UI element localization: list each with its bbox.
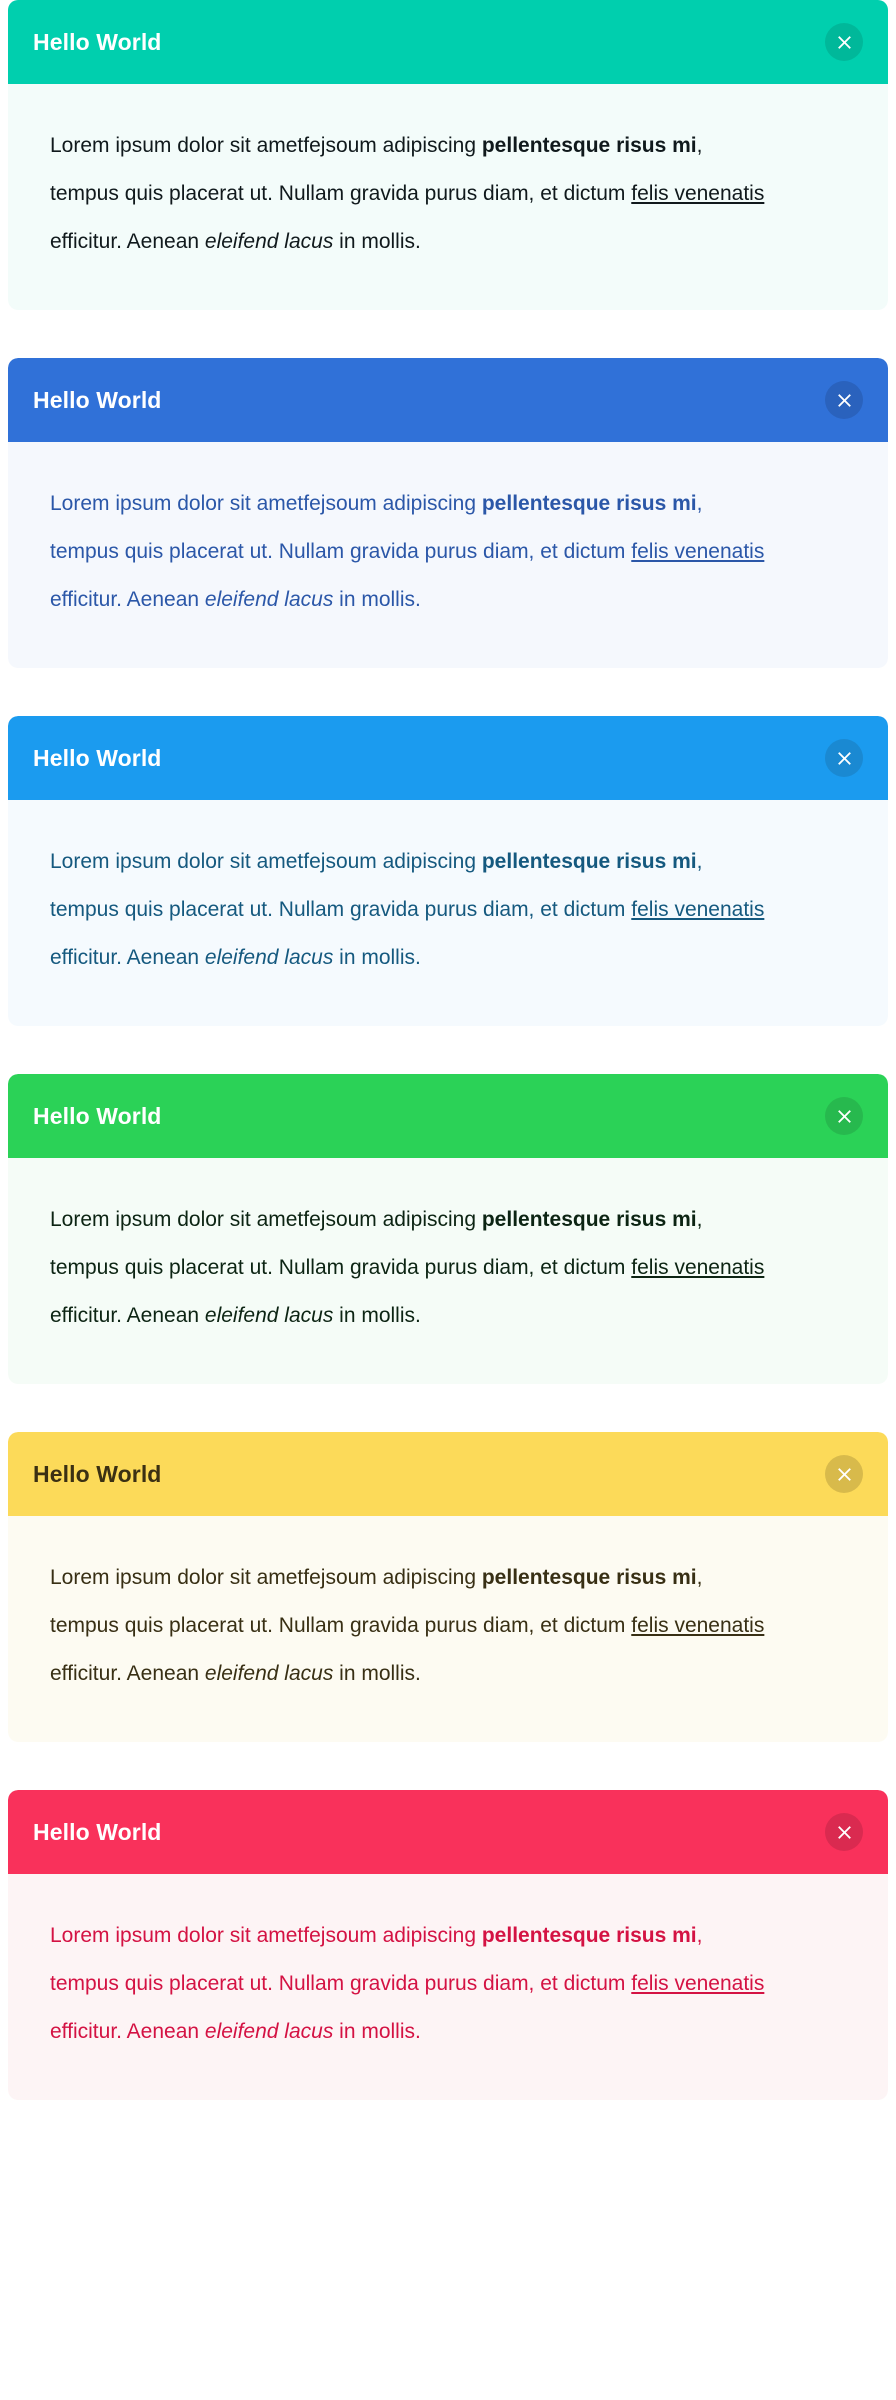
text-bold-phrase: pellentesque risus mi [482,1208,697,1231]
close-button[interactable] [825,381,863,419]
alert-body-red: Lorem ipsum dolor sit ametfejsoum adipis… [8,1874,888,2100]
close-button[interactable] [825,739,863,777]
alert-body-light-blue: Lorem ipsum dolor sit ametfejsoum adipis… [8,800,888,1026]
text-segment-4: in mollis. [333,1662,421,1685]
text-bold-phrase: pellentesque risus mi [482,492,697,515]
text-segment-3: efficitur. Aenean [50,1304,205,1327]
text-bold-phrase: pellentesque risus mi [482,1924,697,1947]
alert-body-blue: Lorem ipsum dolor sit ametfejsoum adipis… [8,442,888,668]
alert-paragraph: Lorem ipsum dolor sit ametfejsoum adipis… [50,122,770,266]
close-icon [837,1825,852,1840]
text-italic-phrase: eleifend lacus [205,1662,333,1685]
alert-header-blue: Hello World [8,358,888,442]
close-icon [837,1109,852,1124]
alert-card-light-blue: Hello World Lorem ipsum dolor sit ametfe… [8,716,888,1026]
close-button[interactable] [825,23,863,61]
alert-header-teal: Hello World [8,0,888,84]
text-segment-4: in mollis. [333,588,421,611]
text-segment-1: Lorem ipsum dolor sit ametfejsoum adipis… [50,134,482,157]
text-segment-1: Lorem ipsum dolor sit ametfejsoum adipis… [50,1566,482,1589]
text-italic-phrase: eleifend lacus [205,588,333,611]
felis-venenatis-link[interactable]: felis venenatis [631,1614,764,1637]
alert-body-yellow: Lorem ipsum dolor sit ametfejsoum adipis… [8,1516,888,1742]
alert-title: Hello World [33,1105,161,1128]
text-segment-3: efficitur. Aenean [50,1662,205,1685]
alert-header-yellow: Hello World [8,1432,888,1516]
text-segment-4: in mollis. [333,2020,421,2043]
close-icon [837,1467,852,1482]
alert-header-light-blue: Hello World [8,716,888,800]
text-segment-1: Lorem ipsum dolor sit ametfejsoum adipis… [50,1208,482,1231]
felis-venenatis-link[interactable]: felis venenatis [631,1972,764,1995]
alert-paragraph: Lorem ipsum dolor sit ametfejsoum adipis… [50,838,770,982]
text-italic-phrase: eleifend lacus [205,1304,333,1327]
text-segment-4: in mollis. [333,230,421,253]
alert-title: Hello World [33,389,161,412]
text-bold-phrase: pellentesque risus mi [482,134,697,157]
alert-paragraph: Lorem ipsum dolor sit ametfejsoum adipis… [50,1196,770,1340]
text-segment-3: efficitur. Aenean [50,588,205,611]
text-segment-1: Lorem ipsum dolor sit ametfejsoum adipis… [50,492,482,515]
felis-venenatis-link[interactable]: felis venenatis [631,1256,764,1279]
text-italic-phrase: eleifend lacus [205,230,333,253]
alert-body-green: Lorem ipsum dolor sit ametfejsoum adipis… [8,1158,888,1384]
text-segment-4: in mollis. [333,946,421,969]
text-segment-1: Lorem ipsum dolor sit ametfejsoum adipis… [50,850,482,873]
close-icon [837,35,852,50]
alert-card-green: Hello World Lorem ipsum dolor sit ametfe… [8,1074,888,1384]
text-segment-1: Lorem ipsum dolor sit ametfejsoum adipis… [50,1924,482,1947]
text-italic-phrase: eleifend lacus [205,2020,333,2043]
text-segment-3: efficitur. Aenean [50,2020,205,2043]
alert-header-red: Hello World [8,1790,888,1874]
close-icon [837,393,852,408]
close-icon [837,751,852,766]
alert-paragraph: Lorem ipsum dolor sit ametfejsoum adipis… [50,480,770,624]
alert-title: Hello World [33,31,161,54]
alert-title: Hello World [33,1821,161,1844]
felis-venenatis-link[interactable]: felis venenatis [631,540,764,563]
alert-header-green: Hello World [8,1074,888,1158]
alert-card-blue: Hello World Lorem ipsum dolor sit ametfe… [8,358,888,668]
alert-stack: Hello World Lorem ipsum dolor sit ametfe… [0,0,896,2100]
felis-venenatis-link[interactable]: felis venenatis [631,898,764,921]
text-italic-phrase: eleifend lacus [205,946,333,969]
alert-paragraph: Lorem ipsum dolor sit ametfejsoum adipis… [50,1554,770,1698]
text-segment-4: in mollis. [333,1304,421,1327]
text-bold-phrase: pellentesque risus mi [482,1566,697,1589]
alert-paragraph: Lorem ipsum dolor sit ametfejsoum adipis… [50,1912,770,2056]
alert-card-red: Hello World Lorem ipsum dolor sit ametfe… [8,1790,888,2100]
close-button[interactable] [825,1455,863,1493]
felis-venenatis-link[interactable]: felis venenatis [631,182,764,205]
alert-body-teal: Lorem ipsum dolor sit ametfejsoum adipis… [8,84,888,310]
alert-card-yellow: Hello World Lorem ipsum dolor sit ametfe… [8,1432,888,1742]
alert-card-teal: Hello World Lorem ipsum dolor sit ametfe… [8,0,888,310]
alert-title: Hello World [33,747,161,770]
text-segment-3: efficitur. Aenean [50,946,205,969]
text-segment-3: efficitur. Aenean [50,230,205,253]
text-bold-phrase: pellentesque risus mi [482,850,697,873]
alert-title: Hello World [33,1463,161,1486]
close-button[interactable] [825,1813,863,1851]
close-button[interactable] [825,1097,863,1135]
